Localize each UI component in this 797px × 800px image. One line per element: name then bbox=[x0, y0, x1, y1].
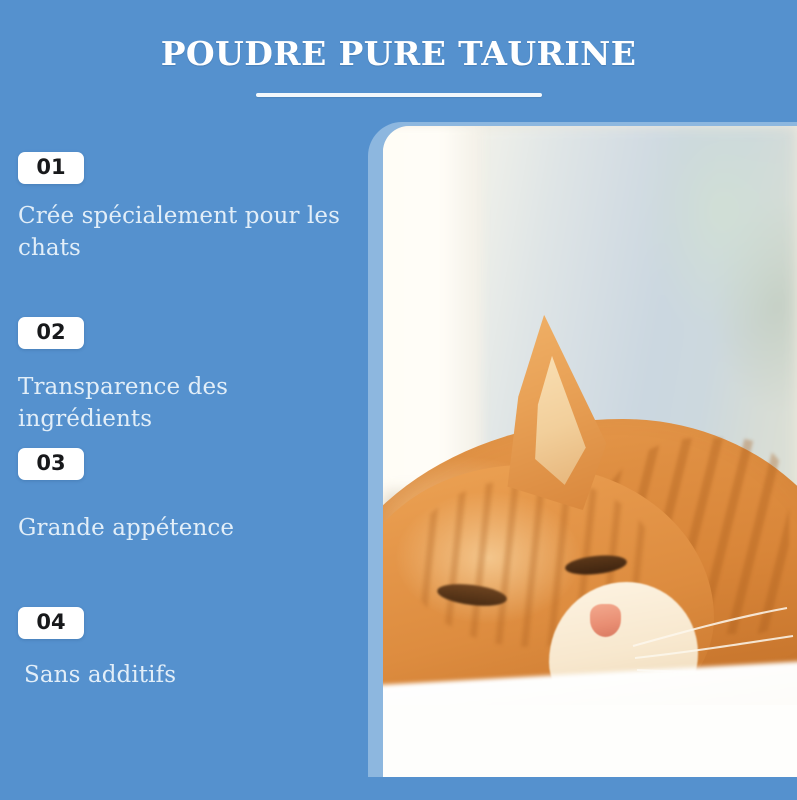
poster-header: POUDRE PURE TAURINE bbox=[0, 0, 797, 120]
feature-item-04: 04 Sans additifs bbox=[18, 607, 370, 691]
feature-item-02: 02 Transparence des ingrédients bbox=[18, 317, 370, 436]
cat-photo-panel bbox=[368, 122, 797, 777]
cat-photo-frame bbox=[383, 126, 797, 777]
feature-item-03: 03 Grande appétence bbox=[18, 448, 370, 544]
feature-label: Crée spécialement pour les chats bbox=[18, 184, 348, 265]
page-title: POUDRE PURE TAURINE bbox=[0, 0, 797, 72]
feature-number-badge: 02 bbox=[18, 317, 84, 349]
feature-number-badge: 03 bbox=[18, 448, 84, 480]
feature-label: Sans additifs bbox=[18, 639, 354, 692]
feature-number-badge: 01 bbox=[18, 152, 84, 184]
product-feature-poster: POUDRE PURE TAURINE bbox=[0, 0, 797, 800]
feature-label: Grande appétence bbox=[18, 480, 348, 545]
feature-number-badge: 04 bbox=[18, 607, 84, 639]
feature-item-01: 01 Crée spécialement pour les chats bbox=[18, 152, 370, 265]
title-divider bbox=[256, 93, 542, 97]
sleeping-cat-photo bbox=[383, 126, 797, 777]
white-sheet-lower bbox=[383, 705, 797, 777]
feature-label: Transparence des ingrédients bbox=[18, 349, 348, 436]
